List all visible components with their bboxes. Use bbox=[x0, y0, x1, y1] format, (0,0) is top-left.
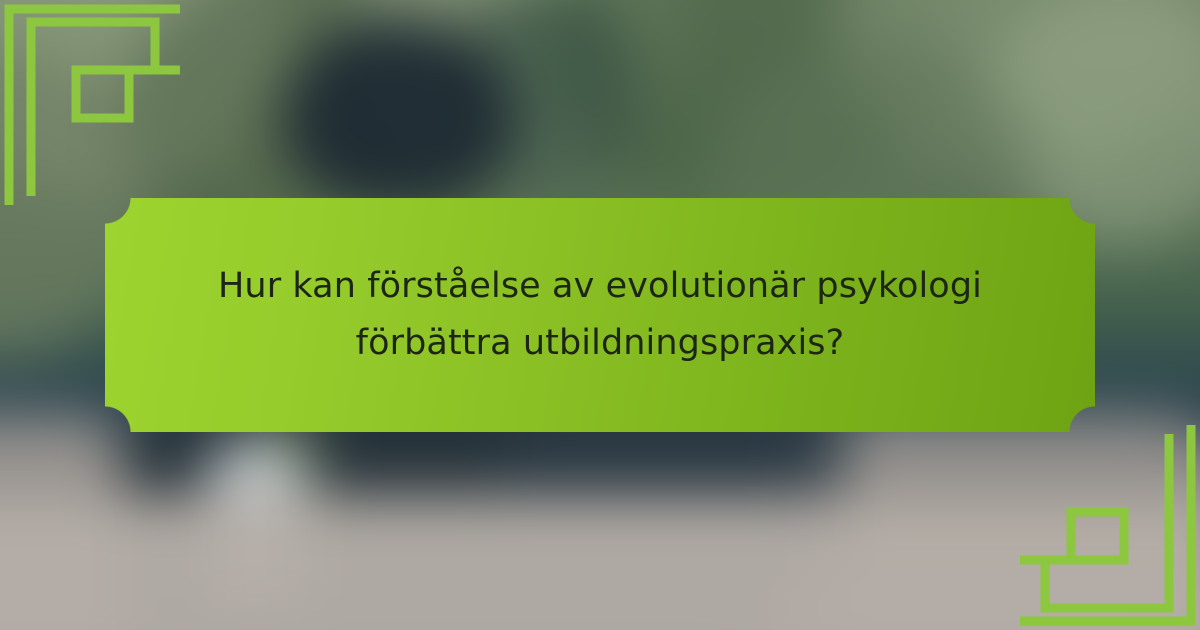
figure-head bbox=[282, 18, 515, 209]
quote-card: Hur kan förståelse av evolutionär psykol… bbox=[105, 198, 1095, 432]
ground-pavement bbox=[0, 495, 1200, 630]
quote-card-graphic: Hur kan förståelse av evolutionär psykol… bbox=[0, 0, 1200, 630]
quote-text: Hur kan förståelse av evolutionär psykol… bbox=[174, 258, 1025, 371]
